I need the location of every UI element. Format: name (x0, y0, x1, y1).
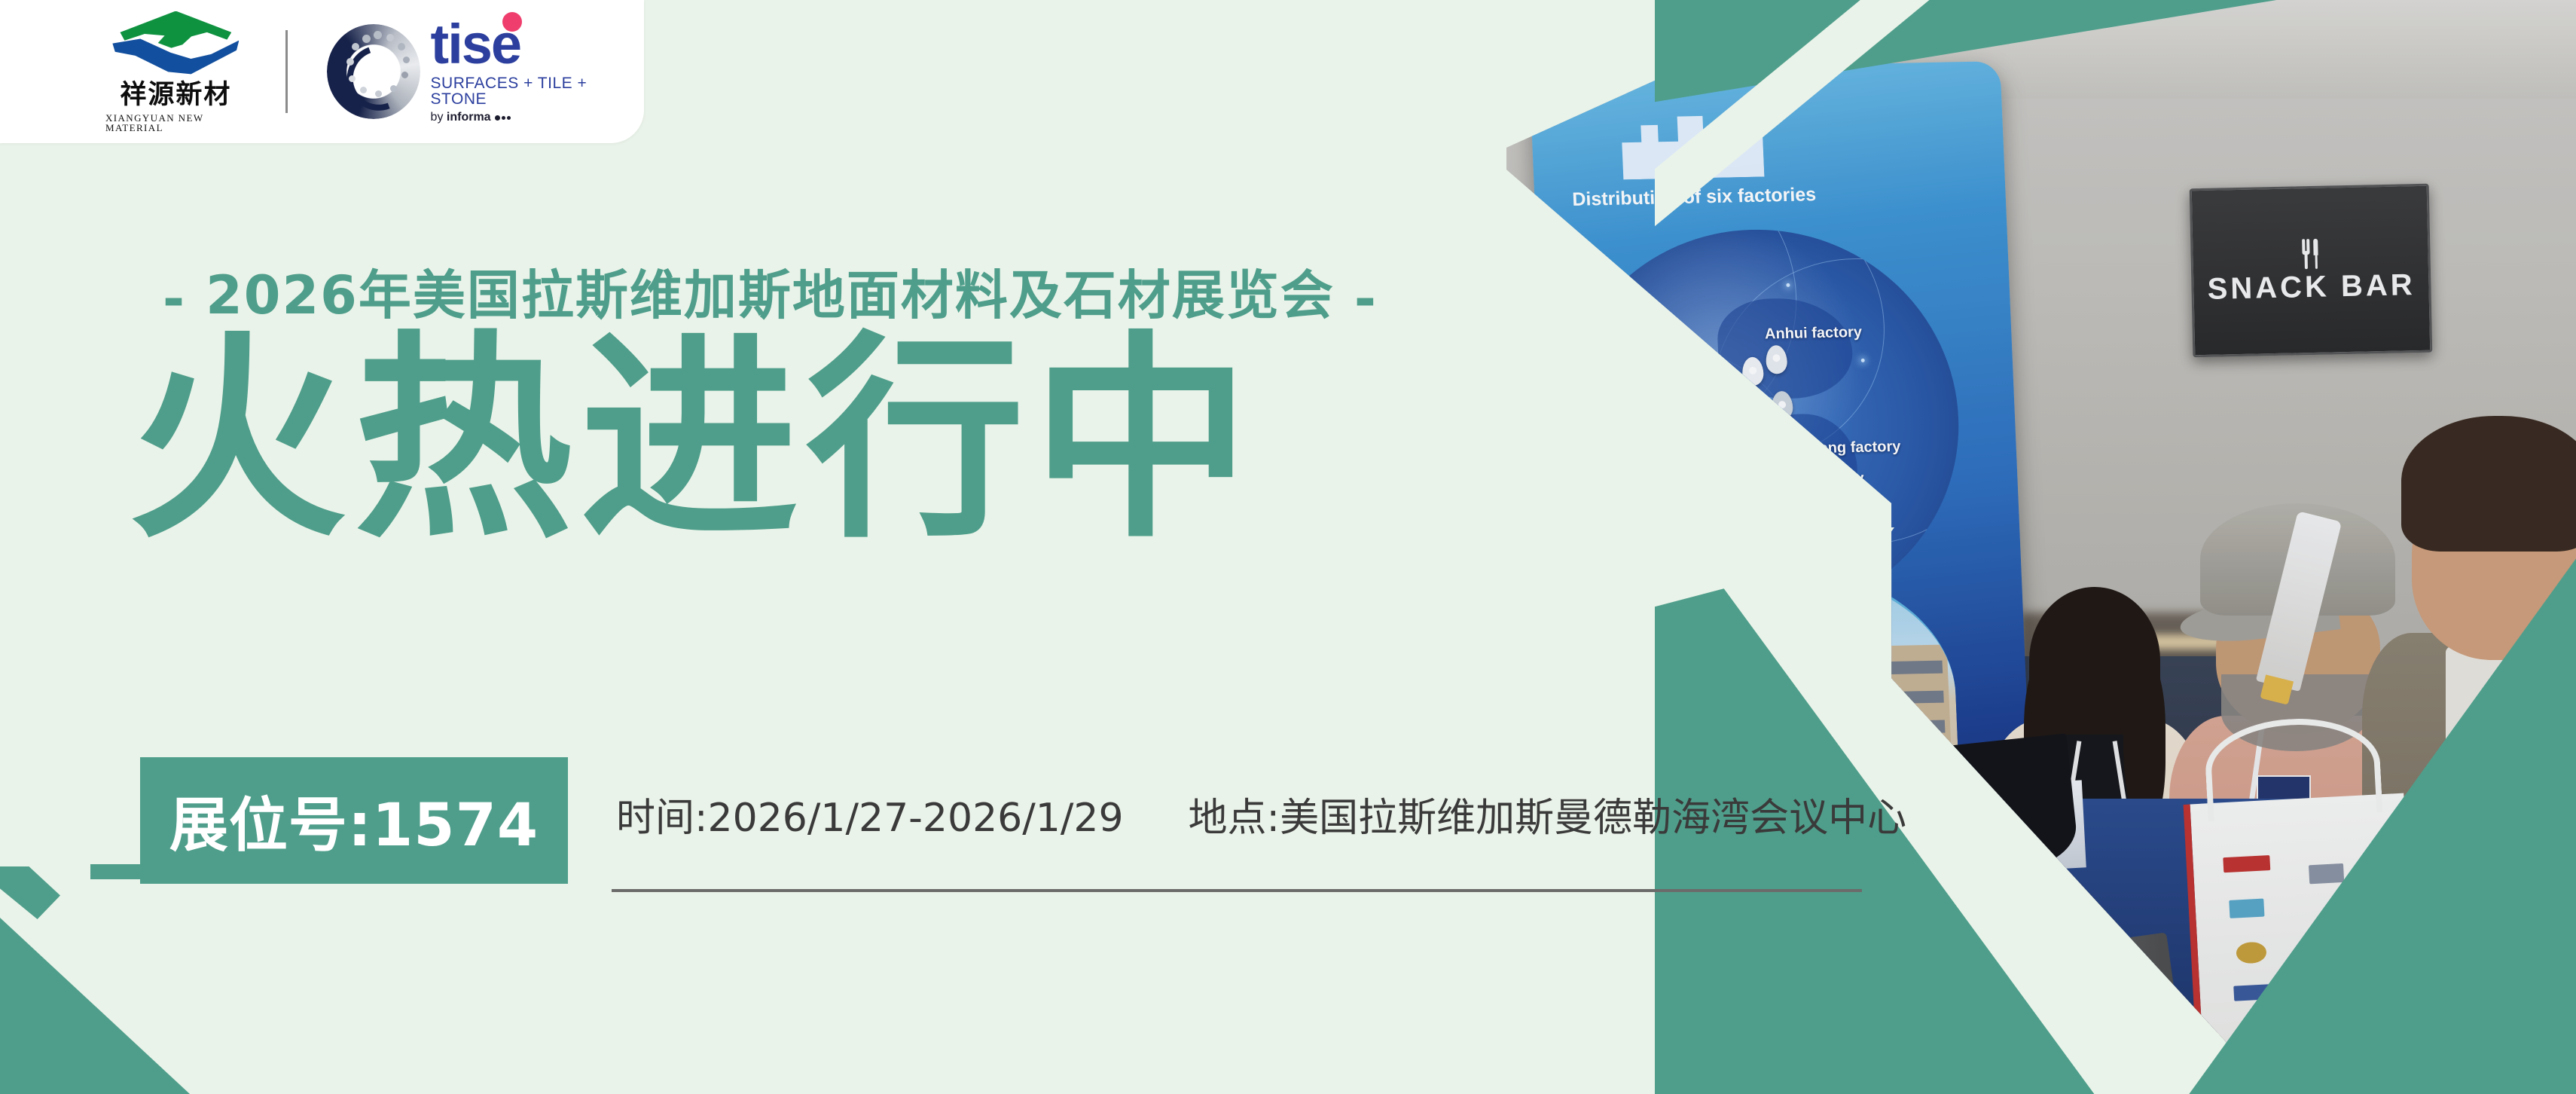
event-meta: 时间:2026/1/27-2026/1/29 地点:美国拉斯维加斯曼德勒海湾会议… (616, 786, 1906, 842)
headline: 火热进行中 (128, 332, 1258, 550)
booth-number-badge: 展位号:1574 (140, 757, 568, 884)
decor-dash-bottom-left (0, 866, 60, 919)
eyebrow-dash-right: - (1354, 268, 1378, 330)
xiangyuan-wave-icon (112, 11, 239, 78)
tise-wordmark: tise (431, 20, 644, 70)
booth-number-label: 展位号:1574 (169, 778, 539, 863)
event-venue: 地点:美国拉斯维加斯曼德勒海湾会议中心 (1189, 786, 1907, 842)
map-label-thailand: Thailand factory (1581, 478, 1698, 497)
tise-logo: tise SURFACES + TILE + STONE by informa (327, 20, 644, 124)
xiangyuan-logo: 祥源新材 XIANGYUAN NEW MATERIAL (105, 11, 246, 133)
exhibition-banner: SNACK BAR Distribution of six factories (0, 0, 2576, 1094)
xiangyuan-name-cn: 祥源新材 (120, 82, 231, 108)
map-label-wuhan: Wuhan factory (1581, 390, 1686, 409)
map-label-vietnam: Vietnam factory (1750, 470, 1864, 490)
logo-divider (285, 30, 288, 113)
xiangyuan-name-en: XIANGYUAN NEW MATERIAL (105, 113, 246, 133)
tise-byline: by informa (431, 112, 644, 124)
tise-tagline: SURFACES + TILE + STONE (431, 75, 644, 107)
tise-ring-icon (327, 24, 420, 119)
meta-underline (612, 889, 1862, 892)
map-pin-guangdong (1756, 403, 1778, 432)
event-date: 时间:2026/1/27-2026/1/29 (616, 786, 1124, 842)
logo-panel: 祥源新材 XIANGYUAN NEW MATERIAL (0, 0, 644, 143)
map-pin-thailand (1733, 438, 1756, 467)
map-label-hubei: Hubei headquarters (1568, 362, 1711, 382)
